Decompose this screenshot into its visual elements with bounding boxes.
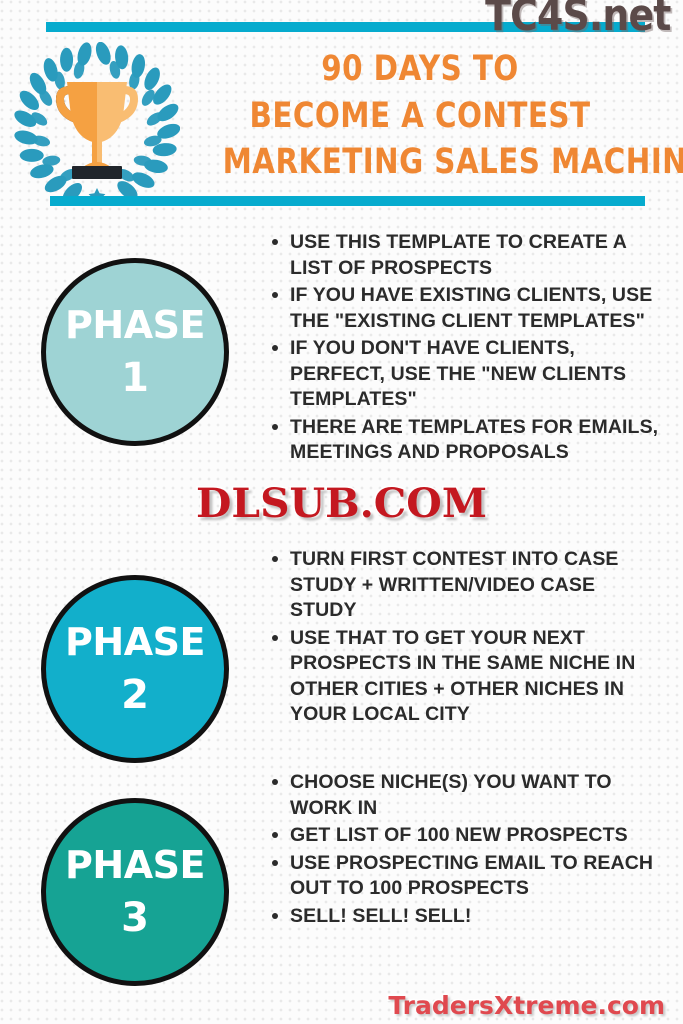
phase-badge-1: PHASE 1 (41, 258, 229, 446)
list-item: USE PROSPECTING EMAIL TO REACH OUT TO 10… (270, 851, 659, 902)
trophy-laurel-icon (14, 42, 180, 208)
infographic-poster: TC4S.net (0, 0, 683, 1024)
phase-badge-wrap-3: PHASE 3 (0, 768, 270, 986)
site-watermark-middle: DLSUB.COM (196, 484, 487, 524)
list-item: TURN FIRST CONTEST INTO CASE STUDY + WRI… (270, 547, 659, 624)
list-item: THERE ARE TEMPLATES FOR EMAILS, MEETINGS… (270, 415, 659, 466)
phase-bullets-2: TURN FIRST CONTEST INTO CASE STUDY + WRI… (270, 545, 683, 730)
page-title: 90 DAYS TO BECOME A CONTEST MARKETING SA… (223, 46, 618, 186)
header-bottom-rule (50, 196, 645, 206)
list-item: SELL! SELL! SELL! (270, 904, 659, 930)
list-item: USE THIS TEMPLATE TO CREATE A LIST OF PR… (270, 230, 659, 281)
phase-badge-wrap-2: PHASE 2 (0, 545, 270, 763)
phase-badge-number-1: 1 (121, 358, 149, 398)
phase-section-1: PHASE 1 USE THIS TEMPLATE TO CREATE A LI… (0, 228, 683, 468)
title-line-3: MARKETING SALES MACHINE (223, 139, 618, 186)
list-item: GET LIST OF 100 NEW PROSPECTS (270, 823, 659, 849)
list-item: IF YOU DON'T HAVE CLIENTS, PERFECT, USE … (270, 336, 659, 413)
phase-bullets-3: CHOOSE NICHE(S) YOU WANT TO WORK IN GET … (270, 768, 683, 931)
phase-badge-word-1: PHASE (65, 306, 205, 344)
title-line-2: BECOME A CONTEST (223, 93, 618, 140)
phase-badge-wrap-1: PHASE 1 (0, 228, 270, 446)
phase-badge-word-3: PHASE (65, 846, 205, 884)
phase-section-3: PHASE 3 CHOOSE NICHE(S) YOU WANT TO WORK… (0, 768, 683, 986)
phase-bullets-1: USE THIS TEMPLATE TO CREATE A LIST OF PR… (270, 228, 683, 468)
site-watermark-bottom: TradersXtreme.com (388, 993, 665, 1018)
title-line-1: 90 DAYS TO (223, 46, 618, 93)
phase-badge-word-2: PHASE (65, 623, 205, 661)
list-item: USE THAT TO GET YOUR NEXT PROSPECTS IN T… (270, 626, 659, 728)
site-watermark-top: TC4S.net (486, 0, 671, 38)
phase-section-2: PHASE 2 TURN FIRST CONTEST INTO CASE STU… (0, 545, 683, 763)
phase-badge-number-2: 2 (121, 675, 149, 715)
phase-badge-number-3: 3 (121, 898, 149, 938)
phase-badge-2: PHASE 2 (41, 575, 229, 763)
list-item: CHOOSE NICHE(S) YOU WANT TO WORK IN (270, 770, 659, 821)
phase-badge-3: PHASE 3 (41, 798, 229, 986)
list-item: IF YOU HAVE EXISTING CLIENTS, USE THE "E… (270, 283, 659, 334)
